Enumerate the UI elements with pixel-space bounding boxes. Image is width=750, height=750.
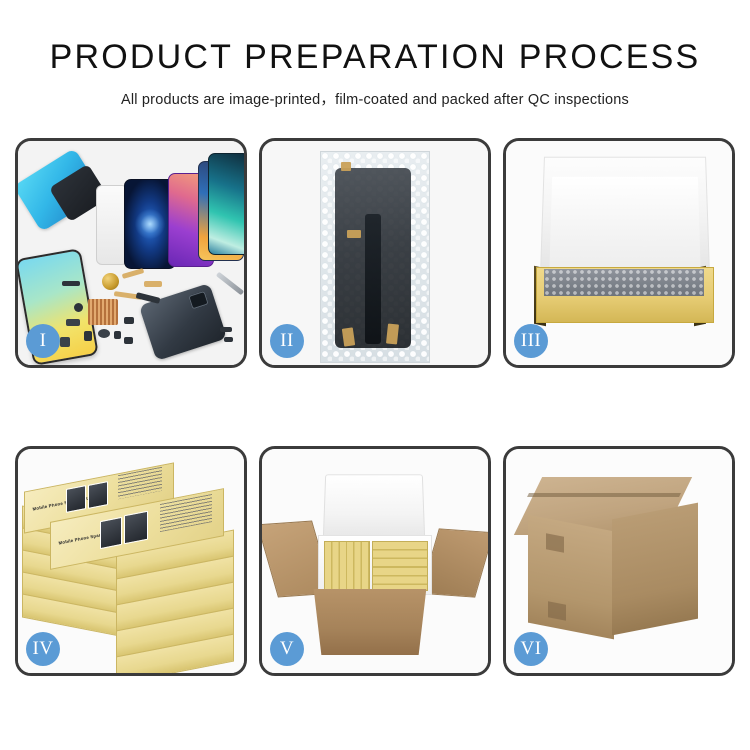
part-icon [74,303,83,312]
part-icon [124,317,134,324]
part-icon [60,337,70,347]
step-badge-5: V [270,632,304,666]
box-thumbnail-icon [66,485,86,513]
teal-gradient-phone-icon [208,153,247,255]
part-icon [124,337,133,344]
speaker-module-icon [102,273,119,290]
copper-shield-grid-icon [88,299,118,325]
carton-tape-icon [546,533,564,552]
step-panel-3[interactable]: III [503,138,735,368]
carton-right-face-icon [612,503,698,636]
step-panel-5[interactable]: V [259,446,491,676]
page-title: PRODUCT PREPARATION PROCESS [0,40,750,74]
tape-icon [386,323,399,344]
foam-cooler-lid-icon [323,474,426,541]
step-panel-1[interactable]: I [15,138,247,368]
infographic-page: PRODUCT PREPARATION PROCESS All products… [0,0,750,750]
bubble-wrap-bag-icon [320,151,430,363]
step-badge-4: IV [26,632,60,666]
part-icon [98,329,110,338]
part-icon [224,337,233,342]
carton-front-icon [306,589,434,655]
carton-top-seam-icon [527,493,681,497]
part-icon [62,281,80,286]
step-panel-6[interactable]: VI [503,446,735,676]
part-icon [114,331,121,339]
box-thumbnail-icon [88,481,108,509]
carton-left-face-icon [528,515,614,640]
part-icon [220,327,232,332]
tape-icon [342,327,355,346]
tape-icon [341,162,351,171]
box-thumbnail-icon [124,511,148,545]
step-badge-2: II [270,324,304,358]
part-icon [84,331,92,341]
yellow-boxes-group-icon [372,541,428,591]
box-thumbnail-icon [100,517,122,549]
step-badge-1: I [26,324,60,358]
yellow-boxes-group-icon [324,541,370,591]
part-icon [66,319,80,326]
screen-flex-cable-icon [365,214,381,344]
bubble-wrapped-contents-icon [544,269,704,296]
flex-cable-icon [144,281,162,287]
carton-tape-icon [548,601,566,620]
process-steps-grid: I II [15,138,735,676]
tape-icon [347,230,361,238]
step-panel-4[interactable]: Mobile Phone Spare Parts Mobile Phone Sp… [15,446,247,676]
white-foam-lid-icon [540,157,710,276]
header: PRODUCT PREPARATION PROCESS All products… [0,0,750,109]
step-panel-2[interactable]: II [259,138,491,368]
step-badge-3: III [514,324,548,358]
step-badge-6: VI [514,632,548,666]
page-subtitle: All products are image-printed，film-coat… [0,88,750,109]
